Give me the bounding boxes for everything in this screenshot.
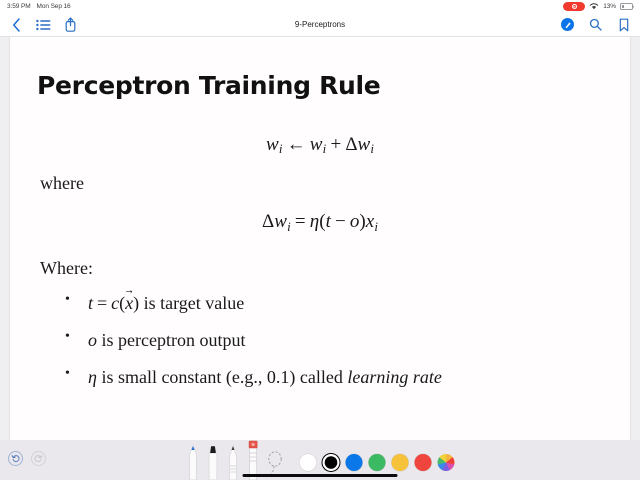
highlighter-tool[interactable] (206, 444, 221, 480)
document-title: 9-Perceptrons (0, 20, 640, 29)
eq2-lhs-symbol: w (274, 211, 287, 232)
undo-icon[interactable] (8, 451, 23, 466)
share-icon[interactable] (63, 17, 78, 32)
home-indicator (243, 474, 398, 477)
eq2-o: o (350, 211, 360, 232)
where-lowercase-label: where (40, 173, 630, 194)
battery-percent-label: 13% (603, 3, 616, 10)
bullet1-c: c (111, 293, 119, 313)
eq1-delta-symbol: w (358, 134, 371, 155)
color-swatch-green[interactable] (369, 454, 386, 471)
eq1-lhs-sub: i (279, 141, 283, 156)
list-item: η is small constant (e.g., 0.1) called l… (10, 367, 630, 388)
wifi-icon (589, 2, 599, 12)
eq1-delta: Δ (345, 134, 357, 155)
battery-icon (620, 3, 633, 10)
list-item: t=c(x) is target value (10, 293, 630, 314)
bullet1-symbol: t (88, 293, 93, 313)
bullet2-text: is perceptron output (102, 330, 246, 350)
undo-redo-group (8, 451, 46, 466)
page-title: Perceptron Training Rule (37, 71, 630, 100)
eq2-x: x (366, 211, 374, 232)
bullet3-emphasis: learning rate (347, 367, 442, 387)
avatar (561, 18, 574, 31)
eq1-delta-sub: i (370, 141, 374, 156)
bullet1-text: is target value (144, 293, 245, 313)
pencil-tool[interactable] (226, 444, 241, 480)
definition-list: t=c(x) is target value o is perceptron o… (10, 293, 630, 389)
color-swatch-blue[interactable] (346, 454, 363, 471)
annotation-avatar-icon[interactable] (560, 17, 575, 32)
battery-fill (622, 5, 624, 8)
status-date: Mon Sep 16 (37, 3, 71, 10)
navigation-toolbar: 9-Perceptrons (0, 13, 640, 37)
drawing-toolbar (0, 440, 640, 480)
where-uppercase-label: Where: (40, 258, 630, 279)
eq2-minus: − (335, 211, 346, 232)
bullet3-text: is small constant (e.g., 0.1) called (101, 367, 342, 387)
nav-right-group (560, 17, 631, 32)
bullet1-equals: = (97, 293, 107, 313)
eq1-rhs-symbol: w (310, 134, 323, 155)
bullet1-vector-x: x (125, 293, 133, 314)
eq2-equals: = (295, 211, 306, 232)
eq2-lhs-sub: i (287, 219, 291, 234)
eq2-delta: Δ (262, 211, 274, 232)
eq2-eta: η (310, 211, 319, 232)
recording-dot-icon (572, 4, 577, 9)
equation-delta-weight: Δwi=η(t−o)xi (10, 211, 630, 234)
bullet3-symbol: η (88, 367, 97, 387)
status-bar-left: 3:59 PM Mon Sep 16 (7, 3, 71, 10)
eq1-lhs-symbol: w (266, 134, 279, 155)
color-swatch-red[interactable] (415, 454, 432, 471)
list-item: o is perceptron output (10, 330, 630, 351)
color-swatch-white[interactable] (300, 454, 317, 471)
page-canvas-area[interactable]: Perceptron Training Rule wi←wi+Δwi where… (0, 37, 640, 440)
status-bar-right: 13% (563, 2, 633, 12)
app-root: 3:59 PM Mon Sep 16 13% (0, 0, 640, 480)
color-palette (300, 454, 455, 471)
eq2-x-sub: i (374, 219, 378, 234)
nav-left-group (9, 17, 78, 32)
contents-list-icon[interactable] (36, 17, 51, 32)
recording-indicator-icon[interactable] (563, 2, 585, 11)
color-swatch-yellow[interactable] (392, 454, 409, 471)
eq2-t: t (326, 211, 331, 232)
note-page[interactable]: Perceptron Training Rule wi←wi+Δwi where… (10, 37, 630, 440)
color-swatch-black[interactable] (323, 454, 340, 471)
back-chevron-icon[interactable] (9, 17, 24, 32)
redo-icon[interactable] (31, 451, 46, 466)
equation-weight-update: wi←wi+Δwi (10, 134, 630, 157)
search-icon[interactable] (588, 17, 603, 32)
pen-tool[interactable] (186, 444, 201, 480)
eq1-arrow: ← (287, 134, 306, 155)
bookmark-icon[interactable] (616, 17, 631, 32)
eq1-plus: + (330, 134, 341, 155)
color-swatch-rainbow[interactable] (438, 454, 455, 471)
status-bar: 3:59 PM Mon Sep 16 13% (0, 0, 640, 13)
status-time: 3:59 PM (7, 3, 31, 10)
eq1-rhs-sub: i (323, 141, 327, 156)
bullet2-symbol: o (88, 330, 97, 350)
